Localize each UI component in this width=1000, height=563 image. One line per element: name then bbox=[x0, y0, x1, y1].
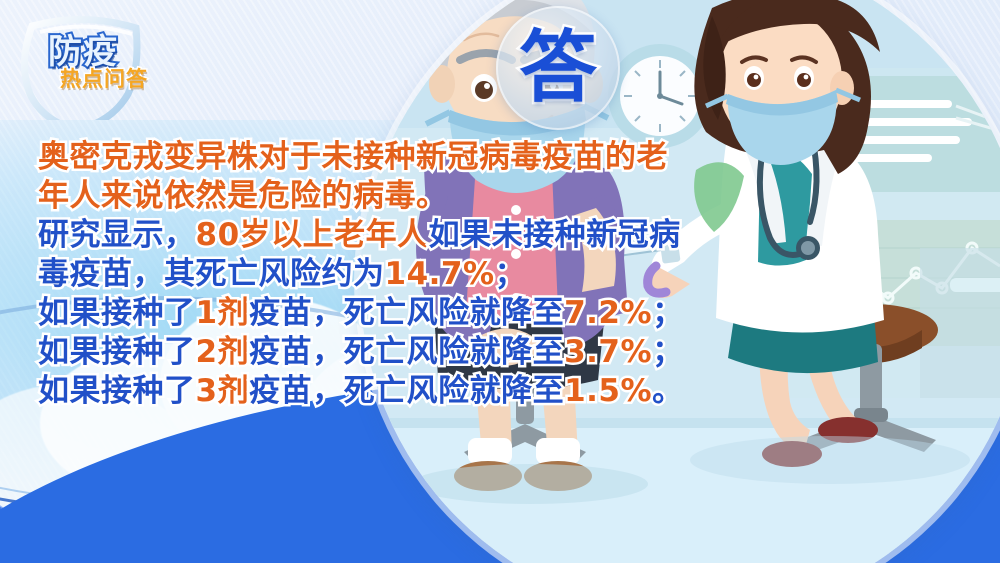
answer-text-segment: 毒疫苗，其死亡风险约为 bbox=[38, 256, 385, 292]
answer-text-segment: 3剂 bbox=[196, 373, 250, 409]
answer-text-segment: 如果未接种新冠病 bbox=[429, 217, 681, 253]
answer-text-segment: 3.7% bbox=[564, 334, 652, 370]
answer-line: 如果接种了1剂疫苗，死亡风险就降至7.2%； bbox=[38, 294, 688, 333]
answer-text-segment: 疫苗，死亡风险就降至 bbox=[249, 373, 564, 409]
answer-line: 毒疫苗，其死亡风险约为14.7%； bbox=[38, 255, 688, 294]
answer-line: 研究显示，80岁以上老年人如果未接种新冠病 bbox=[38, 216, 688, 255]
answer-text-segment: ； bbox=[495, 256, 527, 292]
answer-text-segment: 1剂 bbox=[196, 295, 250, 331]
answer-text-segment: 14.7% bbox=[385, 256, 495, 292]
answer-text-segment: 疫苗，死亡风险就降至 bbox=[249, 334, 564, 370]
answer-line: 奥密克戎变异株对于未接种新冠病毒疫苗的老 bbox=[38, 138, 688, 177]
answer-text-segment: 如果接种了 bbox=[38, 373, 196, 409]
answer-text-segment: 如果接种了 bbox=[38, 334, 196, 370]
answer-text-block: 奥密克戎变异株对于未接种新冠病毒疫苗的老 年人来说依然是危险的病毒。 研究显示，… bbox=[38, 138, 688, 411]
answer-text-segment: 年人来说依然是危险的病毒。 bbox=[38, 178, 448, 214]
answer-line: 如果接种了2剂疫苗，死亡风险就降至3.7%； bbox=[38, 333, 688, 372]
answer-line: 年人来说依然是危险的病毒。 bbox=[38, 177, 688, 216]
logo-main-text: 防疫 bbox=[48, 34, 118, 70]
answer-text-segment: 1.5% bbox=[564, 373, 652, 409]
answer-text-segment: 2剂 bbox=[196, 334, 250, 370]
answer-text-segment: 如果接种了 bbox=[38, 295, 196, 331]
poster-canvas: 防疫 热点问答 答 奥密克戎变异株对于未接种新冠病毒疫苗的老 年人来说依然是危险… bbox=[0, 0, 1000, 563]
answer-text-segment: 奥密克戎变异株对于未接种新冠病毒疫苗的老 bbox=[38, 139, 668, 175]
answer-text-segment: ； bbox=[652, 295, 684, 331]
answer-text-segment: 。 bbox=[652, 373, 684, 409]
answer-text-segment: 研究显示， bbox=[38, 217, 196, 253]
answer-text-segment: 7.2% bbox=[564, 295, 652, 331]
answer-text-segment: 疫苗，死亡风险就降至 bbox=[249, 295, 564, 331]
answer-badge: 答 bbox=[496, 6, 620, 130]
program-logo: 防疫 热点问答 bbox=[14, 10, 194, 120]
answer-line: 如果接种了3剂疫苗，死亡风险就降至1.5%。 bbox=[38, 372, 688, 411]
answer-badge-label: 答 bbox=[519, 29, 597, 107]
answer-text-segment: ； bbox=[652, 334, 684, 370]
answer-text-segment: 80岁以上老年人 bbox=[196, 217, 429, 253]
logo-sub-text: 热点问答 bbox=[60, 68, 148, 90]
